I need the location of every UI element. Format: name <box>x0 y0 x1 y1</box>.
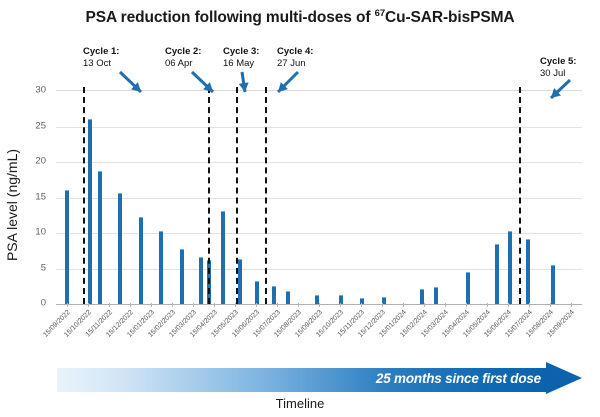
bar <box>508 231 512 304</box>
bar <box>272 286 276 304</box>
chart-title-superscript: 67 <box>375 8 385 19</box>
chart-title-text-pre: PSA reduction following multi-doses of <box>85 9 374 26</box>
cycle-5-date: 30 Jul <box>540 68 576 80</box>
x-axis-tick <box>151 303 152 307</box>
x-axis-tick <box>424 303 425 307</box>
y-axis-tick-label: 30 <box>35 85 46 96</box>
x-axis-tick <box>277 303 278 307</box>
x-axis-tick <box>445 303 446 307</box>
y-axis-tick-label: 0 <box>41 298 46 309</box>
timeline-arrow-head-icon <box>546 362 582 394</box>
bar <box>286 291 290 304</box>
chart-title: PSA reduction following multi-doses of 6… <box>0 8 600 27</box>
cycle-4-label: Cycle 4: <box>277 46 313 58</box>
cycle-2-label: Cycle 2: <box>165 46 201 58</box>
cycle-5-label: Cycle 5: <box>540 56 576 68</box>
cycle-marker-line-4 <box>265 87 267 304</box>
y-axis-tick-label: 20 <box>35 156 46 167</box>
bar <box>139 217 143 304</box>
bar <box>238 259 242 304</box>
cycle-2-annotation: Cycle 2:06 Apr <box>165 46 201 70</box>
x-axis-tick <box>340 303 341 307</box>
x-axis-tick <box>193 303 194 307</box>
x-axis-tick <box>256 303 257 307</box>
bar <box>466 272 470 304</box>
x-axis-tick <box>88 303 89 307</box>
cycle-marker-line-5 <box>519 87 521 304</box>
cycle-2-date: 06 Apr <box>165 58 201 70</box>
y-axis-tick-label: 5 <box>41 262 46 273</box>
bar <box>180 249 184 304</box>
cycle-1-date: 13 Oct <box>83 58 119 70</box>
cycle-4-annotation: Cycle 4:27 Jun <box>277 46 313 70</box>
x-axis-tick <box>172 303 173 307</box>
grid-line <box>56 269 582 270</box>
bar <box>526 239 530 304</box>
x-axis-title: Timeline <box>0 396 600 411</box>
x-axis-tick <box>130 303 131 307</box>
x-axis-tick <box>550 303 551 307</box>
cycle-5-annotation: Cycle 5:30 Jul <box>540 56 576 80</box>
cycle-marker-line-2 <box>208 87 210 304</box>
bar <box>551 265 555 304</box>
x-axis-tick <box>487 303 488 307</box>
cycle-1-annotation: Cycle 1:13 Oct <box>83 46 119 70</box>
grid-line <box>56 162 582 163</box>
x-axis-tick <box>235 303 236 307</box>
x-axis-tick <box>298 303 299 307</box>
x-axis-tick <box>67 303 68 307</box>
grid-line <box>56 127 582 128</box>
x-axis-tick <box>109 303 110 307</box>
plot-area <box>56 90 582 305</box>
bar <box>88 119 92 304</box>
cycle-marker-line-3 <box>236 87 238 304</box>
timeline-arrow: 25 months since first dose <box>57 366 587 394</box>
y-axis-tick-label: 25 <box>35 120 46 131</box>
y-axis-tick-labels: 051015202530 <box>0 0 52 417</box>
x-axis-tick <box>571 303 572 307</box>
bar <box>495 244 499 304</box>
x-axis-tick <box>466 303 467 307</box>
chart-root: PSA reduction following multi-doses of 6… <box>0 0 600 417</box>
timeline-banner-label: 25 months since first dose <box>376 371 541 386</box>
cycle-marker-line-1 <box>83 87 85 304</box>
cycle-1-label: Cycle 1: <box>83 46 119 58</box>
x-axis-tick <box>529 303 530 307</box>
cycle-4-date: 27 Jun <box>277 58 313 70</box>
y-axis-tick-label: 15 <box>35 191 46 202</box>
x-axis-tick <box>403 303 404 307</box>
bar <box>434 287 438 304</box>
bar <box>221 211 225 304</box>
grid-line <box>56 198 582 199</box>
bar <box>255 281 259 304</box>
cycle-3-label: Cycle 3: <box>223 46 259 58</box>
bar <box>65 190 69 304</box>
cycle-3-date: 16 May <box>223 58 259 70</box>
grid-line <box>56 233 582 234</box>
x-axis-tick <box>361 303 362 307</box>
bar <box>159 231 163 304</box>
x-axis-tick <box>214 303 215 307</box>
x-axis-tick <box>382 303 383 307</box>
bar <box>98 171 102 304</box>
cycle-3-annotation: Cycle 3:16 May <box>223 46 259 70</box>
x-axis-tick <box>508 303 509 307</box>
y-axis-tick-label: 10 <box>35 227 46 238</box>
bar <box>199 257 203 304</box>
chart-title-text-post: Cu-SAR-bisPSMA <box>385 9 515 26</box>
x-axis-tick <box>319 303 320 307</box>
bar <box>118 193 122 304</box>
bar <box>420 289 424 304</box>
